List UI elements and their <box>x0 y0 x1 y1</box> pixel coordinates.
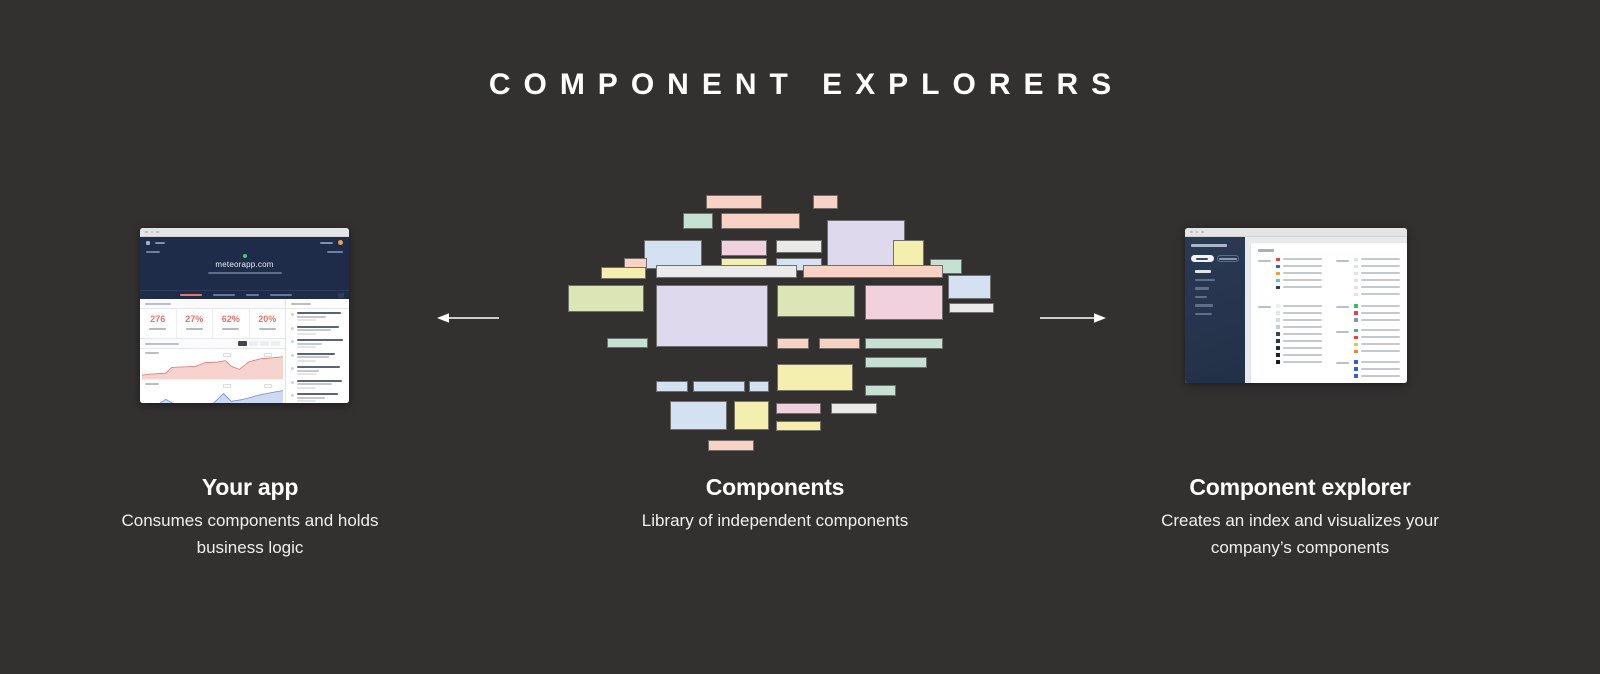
window-dot-minimize <box>1196 231 1199 234</box>
color-chip <box>1276 318 1280 322</box>
status-online-dot <box>243 254 247 258</box>
caption-heading: Components <box>610 475 940 500</box>
app-tab-bar <box>140 290 349 299</box>
color-chip <box>1354 293 1358 297</box>
swatch-row[interactable] <box>1354 343 1400 347</box>
tab-components[interactable] <box>1217 255 1240 262</box>
color-chip <box>1354 336 1358 340</box>
caption-description: Library of independent components <box>610 508 940 534</box>
range-1w[interactable] <box>271 341 280 346</box>
color-card <box>1251 243 1407 383</box>
list-item[interactable] <box>286 377 349 391</box>
window-dot-minimize <box>151 231 154 234</box>
swatch-row[interactable] <box>1276 360 1322 364</box>
color-chip <box>1354 265 1358 269</box>
arrow-to-your-app <box>437 311 499 325</box>
component-block[interactable] <box>721 213 800 229</box>
caption-description: Consumes components and holds business l… <box>95 508 405 561</box>
component-block[interactable] <box>706 195 762 209</box>
chart-cpu <box>140 380 285 403</box>
explorer-tab-group <box>1191 255 1239 262</box>
swatch-columns <box>1258 258 1400 297</box>
tab-settings[interactable] <box>270 294 292 296</box>
activity-title <box>286 299 349 309</box>
breadcrumb[interactable] <box>146 251 160 253</box>
stat-label <box>222 328 239 330</box>
sidebar-item-tables[interactable] <box>1195 313 1212 316</box>
swatch-row[interactable] <box>1276 353 1322 357</box>
window-dot-close <box>145 231 148 234</box>
swatch-row[interactable] <box>1276 279 1322 283</box>
color-chip <box>1276 339 1280 343</box>
explorer-logo <box>1191 244 1227 247</box>
sidebar-item-icons[interactable] <box>1195 287 1209 290</box>
stat-memory: 62% <box>213 309 250 338</box>
color-chip <box>1354 374 1358 378</box>
tab-logs[interactable] <box>246 294 259 296</box>
caption-components: Components Library of independent compon… <box>610 475 940 535</box>
chart-tooltip-badge <box>223 353 231 357</box>
range-1d[interactable] <box>260 341 269 346</box>
sidebar-item-forms[interactable] <box>1195 304 1213 307</box>
swatch-row[interactable] <box>1276 318 1322 322</box>
swatch-row[interactable] <box>1354 311 1400 315</box>
range-1h[interactable] <box>238 341 247 346</box>
swatch-columns-secondary <box>1258 304 1400 378</box>
caption-your-app: Your app Consumes components and holds b… <box>95 475 405 561</box>
swatch-group-alert <box>1336 329 1400 354</box>
component-block[interactable] <box>949 303 994 313</box>
caption-heading: Your app <box>95 475 405 500</box>
list-item[interactable] <box>286 309 349 323</box>
overview-section-header <box>140 299 285 309</box>
app-help-link[interactable] <box>155 242 165 244</box>
chart-tooltip-badge <box>264 353 272 357</box>
color-chip <box>1354 367 1358 371</box>
window-titlebar <box>140 228 349 237</box>
color-chip <box>1354 311 1358 315</box>
color-chip <box>1276 360 1280 364</box>
component-block[interactable] <box>865 338 943 349</box>
chart-cpu-label <box>145 383 159 385</box>
chart-clients <box>140 349 285 380</box>
component-block[interactable] <box>865 357 927 368</box>
component-block[interactable] <box>831 403 877 414</box>
color-chip <box>1354 286 1358 290</box>
app-tab-action-button[interactable] <box>338 293 344 298</box>
arrow-to-component-explorer <box>1040 311 1106 325</box>
window-dot-close <box>1190 231 1193 234</box>
color-chip <box>1276 346 1280 350</box>
activity-bullet-icon <box>291 327 294 330</box>
list-item[interactable] <box>286 336 349 350</box>
app-hero-header: meteorapp.com <box>140 237 349 299</box>
swatch-row[interactable] <box>1354 367 1400 371</box>
caption-description: Creates an index and visualizes your com… <box>1145 508 1455 561</box>
color-chip <box>1354 272 1358 276</box>
list-item[interactable] <box>286 363 349 377</box>
component-block[interactable] <box>803 265 943 278</box>
component-block[interactable] <box>734 401 769 430</box>
activity-panel <box>286 299 349 403</box>
activity-bullet-icon <box>291 367 294 370</box>
stats-row: 276 27% 62% 20% <box>140 309 285 339</box>
activity-bullet-icon <box>291 340 294 343</box>
color-chip <box>1276 311 1280 315</box>
color-chip <box>1354 343 1358 347</box>
color-chip <box>1354 329 1358 333</box>
component-block[interactable] <box>693 381 745 392</box>
window-titlebar <box>1185 228 1407 237</box>
time-range-selector[interactable] <box>238 341 280 346</box>
window-dot-zoom <box>1201 231 1204 234</box>
component-block[interactable] <box>749 381 769 392</box>
app-support-link[interactable] <box>320 242 333 244</box>
sidebar-item-color[interactable] <box>1195 270 1211 273</box>
color-chip <box>1276 265 1280 269</box>
swatch-row[interactable] <box>1354 360 1400 364</box>
component-block[interactable] <box>683 213 713 229</box>
swatch-row[interactable] <box>1276 265 1322 269</box>
color-chip <box>1276 325 1280 329</box>
swatch-group-primary <box>1258 258 1322 297</box>
component-block[interactable] <box>776 421 821 431</box>
explorer-viewport: Source Sans Pro Wild Blue <box>1185 237 1407 383</box>
color-chip <box>1354 258 1358 262</box>
swatch-group-label <box>1336 331 1349 333</box>
list-item[interactable] <box>286 350 349 364</box>
component-block[interactable] <box>865 285 943 320</box>
color-chip <box>1276 353 1280 357</box>
swatch-row[interactable] <box>1354 286 1400 290</box>
caption-component-explorer: Component explorer Creates an index and … <box>1145 475 1455 561</box>
swatch-group-label <box>1336 260 1349 262</box>
component-block[interactable] <box>777 364 853 391</box>
color-chip <box>1354 318 1358 322</box>
color-chip <box>1276 258 1280 262</box>
activity-bullet-icon <box>291 394 294 397</box>
color-chip <box>1354 304 1358 308</box>
color-chip <box>1354 350 1358 354</box>
app-status-label <box>327 251 343 253</box>
chart-clients-label <box>145 352 159 354</box>
component-block[interactable] <box>656 285 768 347</box>
swatch-group-text <box>1336 258 1400 297</box>
app-domain-subtitle <box>208 272 282 274</box>
swatch-row[interactable] <box>1276 339 1322 343</box>
stat-label <box>259 328 276 330</box>
list-item[interactable] <box>286 390 349 403</box>
swatch-row[interactable] <box>1276 332 1322 336</box>
component-block[interactable] <box>776 403 821 414</box>
stat-label <box>149 328 166 330</box>
stat-clients: 276 <box>140 309 177 338</box>
swatch-group-primary-2 <box>1336 360 1400 378</box>
component-block[interactable] <box>568 285 644 312</box>
swatch-row[interactable] <box>1276 346 1322 350</box>
window-dot-zoom <box>156 231 159 234</box>
sidebar-item-buttons[interactable] <box>1195 279 1215 282</box>
explorer-content: Source Sans Pro Wild Blue <box>1245 237 1407 383</box>
swatch-row[interactable] <box>1276 272 1322 276</box>
color-chip <box>1276 332 1280 336</box>
swatch-row[interactable] <box>1354 265 1400 269</box>
component-block[interactable] <box>948 275 991 299</box>
app-browser-window[interactable]: meteorapp.com <box>140 228 349 403</box>
color-chip <box>1276 304 1280 308</box>
swatch-row[interactable] <box>1354 318 1400 322</box>
range-6h[interactable] <box>249 341 258 346</box>
chart-tooltip-badge <box>264 384 272 388</box>
color-chip <box>1354 360 1358 364</box>
app-content-column: 276 27% 62% 20% <box>140 299 286 403</box>
caption-heading: Component explorer <box>1145 475 1455 500</box>
explorer-browser-window[interactable]: Source Sans Pro Wild Blue <box>1185 228 1407 383</box>
component-block[interactable] <box>607 338 648 348</box>
swatch-row[interactable] <box>1354 304 1400 308</box>
component-block[interactable] <box>601 267 646 279</box>
performance-section-label <box>145 343 179 345</box>
swatch-row[interactable] <box>1276 304 1322 308</box>
component-block[interactable] <box>813 195 838 209</box>
swatch-row[interactable] <box>1354 374 1400 378</box>
swatch-group-label <box>1336 306 1349 308</box>
color-chip <box>1354 279 1358 283</box>
color-chip <box>1276 286 1280 290</box>
app-menu-icon[interactable] <box>146 241 150 245</box>
color-chip <box>1276 279 1280 283</box>
sidebar-item-type[interactable] <box>1195 296 1207 299</box>
performance-section-header <box>140 339 285 349</box>
component-block[interactable] <box>776 240 822 253</box>
activity-bullet-icon <box>291 381 294 384</box>
stat-label <box>186 328 203 330</box>
stat-cpu: 27% <box>177 309 214 338</box>
component-block[interactable] <box>721 240 767 256</box>
app-main: 276 27% 62% 20% <box>140 299 349 403</box>
component-block[interactable] <box>777 285 855 317</box>
stat-connections: 20% <box>250 309 286 338</box>
tab-containers[interactable] <box>213 294 235 296</box>
activity-label <box>291 303 311 305</box>
chart-tooltip-badge <box>223 384 231 388</box>
tab-overview[interactable] <box>180 294 202 296</box>
avatar[interactable] <box>338 240 343 245</box>
swatch-row[interactable] <box>1276 258 1322 262</box>
tab-styles[interactable] <box>1191 255 1214 262</box>
component-block[interactable] <box>670 401 727 430</box>
swatch-row[interactable] <box>1276 286 1322 290</box>
swatch-row[interactable] <box>1354 350 1400 354</box>
swatch-group-interface <box>1336 304 1400 322</box>
app-domain-title: meteorapp.com <box>140 260 349 269</box>
swatch-group-label <box>1336 362 1349 364</box>
explorer-sidebar <box>1185 237 1245 383</box>
swatch-group-label <box>1258 260 1271 262</box>
swatch-row[interactable] <box>1354 279 1400 283</box>
color-chip <box>1276 272 1280 276</box>
app-topbar <box>140 237 349 248</box>
page-title: COMPONENT EXPLORERS <box>0 68 1600 102</box>
component-block[interactable] <box>865 385 896 396</box>
swatch-row[interactable] <box>1354 336 1400 340</box>
component-explorers-diagram: COMPONENT EXPLORERS <box>0 0 1600 674</box>
swatch-row[interactable] <box>1276 325 1322 329</box>
overview-section-label <box>145 303 171 305</box>
component-block[interactable] <box>656 381 688 392</box>
component-block[interactable] <box>708 440 754 451</box>
explorer-nav <box>1191 270 1239 315</box>
swatch-group-neutral <box>1258 304 1322 378</box>
list-item[interactable] <box>286 323 349 337</box>
swatch-row[interactable] <box>1354 258 1400 262</box>
swatch-group-label <box>1258 306 1271 308</box>
app-viewport: meteorapp.com <box>140 237 349 403</box>
swatch-row[interactable] <box>1354 329 1400 333</box>
component-block[interactable] <box>819 338 860 349</box>
activity-bullet-icon <box>291 354 294 357</box>
component-block[interactable] <box>777 338 809 349</box>
activity-bullet-icon <box>291 313 294 316</box>
component-block[interactable] <box>656 265 797 278</box>
swatch-groups-right <box>1336 304 1400 378</box>
color-card-title <box>1258 249 1274 252</box>
swatch-row[interactable] <box>1276 311 1322 315</box>
swatch-row[interactable] <box>1354 293 1400 297</box>
charts <box>140 349 285 403</box>
swatch-row[interactable] <box>1354 272 1400 276</box>
